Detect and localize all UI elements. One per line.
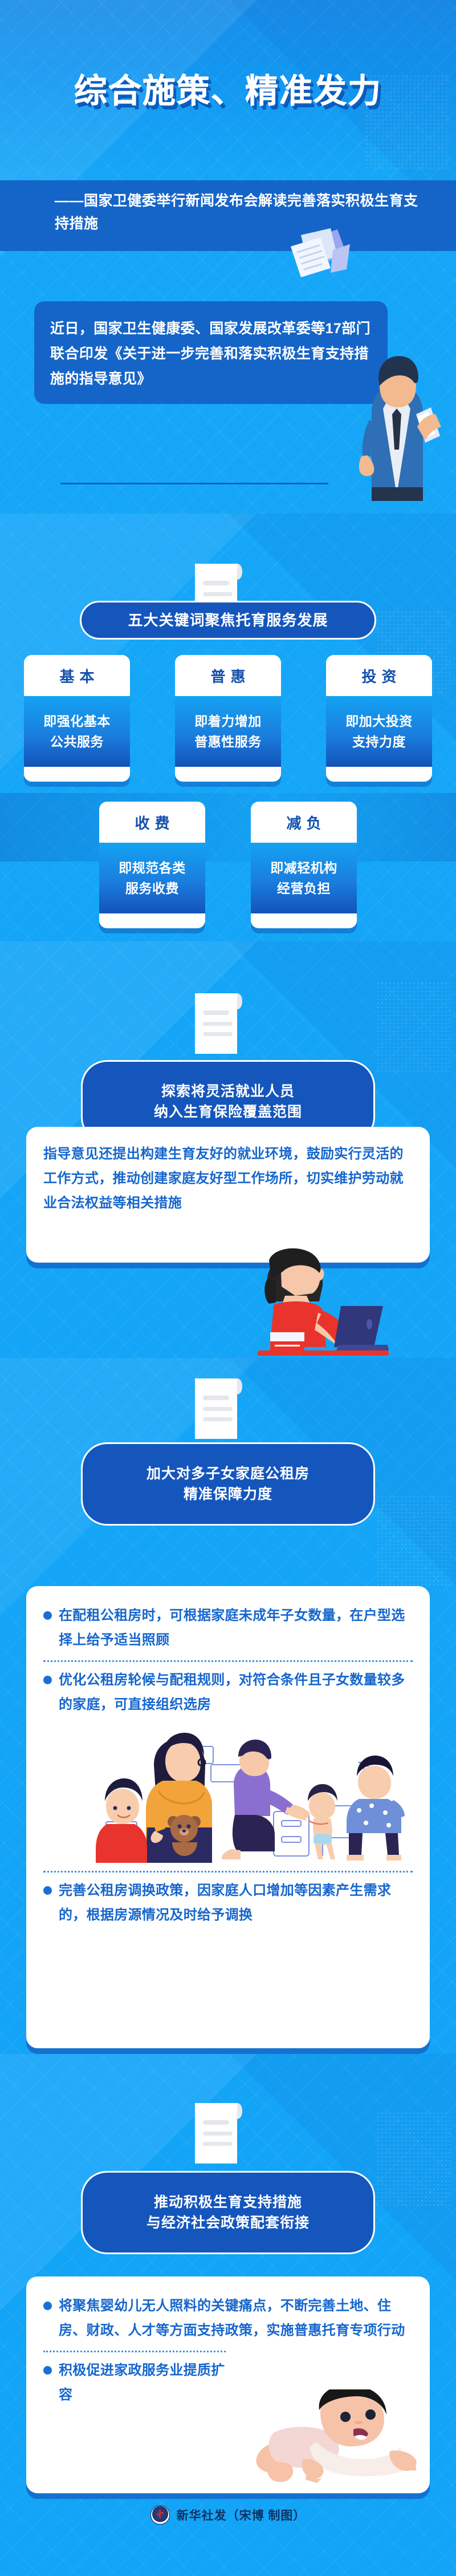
list-item: 将聚焦婴幼儿无人照料的关键痛点，不断完善土地、住房、财政、人才等方面支持政策，实… xyxy=(43,2294,413,2343)
keyword-card-4[interactable]: 收费 即规范各类 服务收费 xyxy=(99,802,205,928)
keyword-desc: 即强化基本 公共服务 xyxy=(24,696,130,767)
policy-bullet-1: 将聚焦婴幼儿无人照料的关键痛点，不断完善土地、住房、财政、人才等方面支持政策，实… xyxy=(59,2294,413,2343)
keyword-card-5[interactable]: 减负 即减轻机构 经营负担 xyxy=(251,802,357,928)
dotted-separator xyxy=(43,1660,413,1662)
heading-line-1: 探索将灵活就业人员 xyxy=(161,1081,295,1102)
footer-credit: 新华社发（宋博 制图） xyxy=(177,2506,306,2524)
heading-line-2: 精准保障力度 xyxy=(184,1484,272,1505)
keyword-term: 普惠 xyxy=(175,655,281,696)
keyword-card-1[interactable]: 基本 即强化基本 公共服务 xyxy=(24,655,130,782)
bullet-dot-icon xyxy=(43,2302,52,2310)
infographic-poster: 综合施策、精准发力 ——国家卫健委举行新闻发布会解读完善落实积极生育支持措施 近… xyxy=(0,0,456,2576)
insurance-body-text: 指导意见还提出构建生育友好的就业环境，鼓励实行灵活的工作方式，推动创建家庭友好型… xyxy=(43,1146,404,1211)
bullet-dot-icon xyxy=(43,1611,52,1620)
section-heading-housing: 加大对多子女家庭公租房 精准保障力度 xyxy=(81,1442,375,1526)
section-heading-keywords: 五大关键词聚焦托育服务发展 xyxy=(80,601,376,640)
list-item: 完善公租房调换政策，因家庭人口增加等因素产生需求的，根据房源情况及时给予调换 xyxy=(43,1878,413,1927)
crawling-baby-illustration xyxy=(249,2389,420,2492)
policy-bullet-2: 积极促进家政服务业提质扩容 xyxy=(59,2358,231,2407)
page-subtitle: ——国家卫健委举行新闻发布会解读完善落实积极生育支持措施 xyxy=(55,189,422,235)
housing-bullets-card: 在配租公租房时，可根据家庭未成年子女数量，在户型选择上给予适当照顾 优化公租房轮… xyxy=(26,1586,430,2048)
heading-line-1: 推动积极生育支持措施 xyxy=(154,2192,302,2213)
housing-bullet-2: 优化公租房轮候与配租规则，对符合条件且子女数量较多的家庭，可直接组织选房 xyxy=(59,1668,413,1717)
keyword-card-footer xyxy=(24,767,130,782)
poster-header: 综合施策、精准发力 xyxy=(0,0,456,180)
bullet-dot-icon xyxy=(43,1886,52,1895)
keyword-term: 收费 xyxy=(99,802,205,843)
family-illustration xyxy=(51,1720,405,1863)
keyword-term: 投资 xyxy=(326,655,432,696)
keyword-card-footer xyxy=(326,767,432,782)
keyword-desc: 即减轻机构 经营负担 xyxy=(251,843,357,913)
list-item: 积极促进家政服务业提质扩容 xyxy=(43,2358,231,2407)
keyword-card-2[interactable]: 普惠 即着力增加 普惠性服务 xyxy=(175,655,281,782)
keyword-desc: 即加大投资 支持力度 xyxy=(326,696,432,767)
intro-text: 近日，国家卫生健康委、国家发展改革委等17部门联合印发《关于进一步完善和落实积极… xyxy=(50,321,370,387)
xinhua-logo-icon xyxy=(150,2505,170,2525)
page-title: 综合施策、精准发力 xyxy=(0,64,456,112)
divider-rule xyxy=(60,483,328,484)
keyword-desc: 即规范各类 服务收费 xyxy=(99,843,205,913)
bullet-dot-icon xyxy=(43,1676,52,1684)
dotted-separator xyxy=(43,1871,413,1873)
insurance-body-card: 指导意见还提出构建生育友好的就业环境，鼓励实行灵活的工作方式，推动创建家庭友好型… xyxy=(26,1127,430,1263)
keyword-card-footer xyxy=(99,913,205,928)
keyword-term: 基本 xyxy=(24,655,130,696)
scroll-paper-icon-policy xyxy=(192,2100,246,2167)
heading-line-2: 纳入生育保险覆盖范围 xyxy=(154,1102,302,1122)
heading-line-2: 与经济社会政策配套衔接 xyxy=(146,2213,310,2233)
list-item: 优化公租房轮候与配租规则，对符合条件且子女数量较多的家庭，可直接组织选房 xyxy=(43,1668,413,1717)
keyword-desc: 即着力增加 普惠性服务 xyxy=(175,696,281,767)
policy-bullets-card: 将聚焦婴幼儿无人照料的关键痛点，不断完善土地、住房、财政、人才等方面支持政策，实… xyxy=(26,2276,430,2493)
housing-bullet-1: 在配租公租房时，可根据家庭未成年子女数量，在户型选择上给予适当照顾 xyxy=(59,1603,413,1652)
keyword-card-footer xyxy=(175,767,281,782)
bullet-dot-icon xyxy=(43,2366,52,2375)
intro-card: 近日，国家卫生健康委、国家发展改革委等17部门联合印发《关于进一步完善和落实积极… xyxy=(34,301,388,404)
section-heading-policy: 推动积极生育支持措施 与经济社会政策配套衔接 xyxy=(81,2171,375,2254)
heading-line-1: 加大对多子女家庭公租房 xyxy=(146,1463,310,1484)
poster-footer: 新华社发（宋博 制图） xyxy=(0,2496,456,2576)
scroll-paper-icon-housing xyxy=(192,1375,246,1442)
keyword-term: 减负 xyxy=(251,802,357,843)
keyword-card-footer xyxy=(251,913,357,928)
list-item: 在配租公租房时，可根据家庭未成年子女数量，在户型选择上给予适当照顾 xyxy=(43,1603,413,1652)
dotted-separator xyxy=(43,2351,226,2352)
keyword-card-3[interactable]: 投资 即加大投资 支持力度 xyxy=(326,655,432,782)
housing-bullet-3: 完善公租房调换政策，因家庭人口增加等因素产生需求的，根据房源情况及时给予调换 xyxy=(59,1878,413,1927)
scroll-paper-icon-insurance xyxy=(192,990,246,1057)
